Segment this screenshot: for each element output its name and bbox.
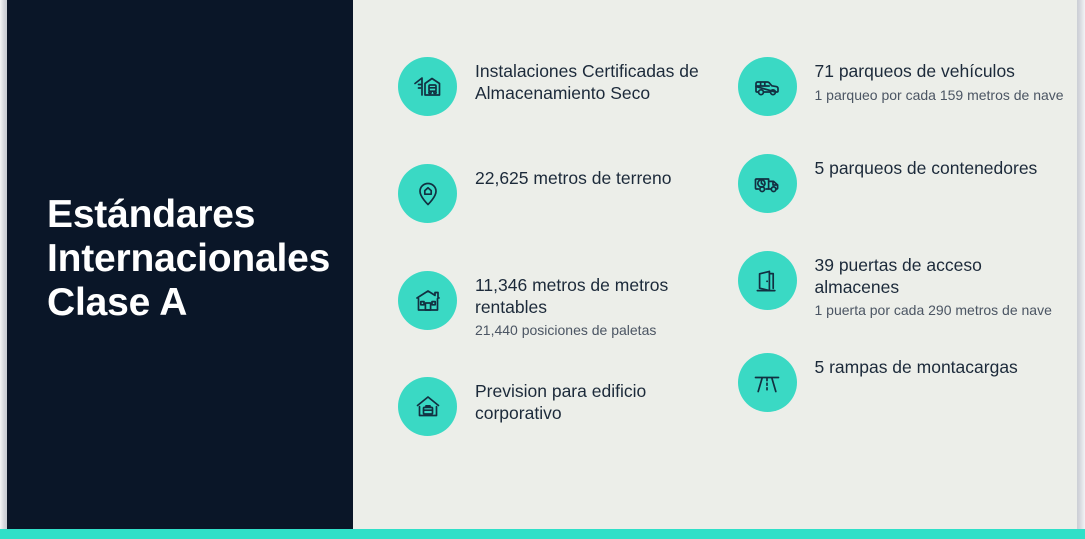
feature-item-vehicle-parking: 71 parqueos de vehículos 1 parqueo por c…: [738, 55, 1068, 116]
delivery-truck-clock-icon: [738, 154, 797, 213]
features-column-left: Instalaciones Certificadas de Almacenami…: [398, 55, 738, 436]
page-title-line-1: Estándares: [47, 193, 347, 237]
feature-item-corporate-building: Prevision para edificio corporativo: [398, 375, 738, 436]
map-pin-icon: [398, 164, 457, 223]
feature-title: Instalaciones Certificadas de Almacenami…: [475, 61, 738, 104]
page-edge-left: [0, 0, 7, 539]
feature-title: 71 parqueos de vehículos: [815, 61, 1064, 83]
feature-text: 5 rampas de montacargas: [815, 351, 1018, 379]
page-edge-right: [1077, 0, 1085, 539]
page-title-line-3: Clase A: [47, 281, 347, 325]
feature-subtitle: 1 puerta por cada 290 metros de nave: [815, 302, 1065, 319]
feature-title: 11,346 metros de metros rentables: [475, 275, 738, 318]
warehouse-building-icon: [398, 271, 457, 330]
bottom-accent-bar: [0, 529, 1085, 539]
feature-title: 22,625 metros de terreno: [475, 168, 672, 190]
feature-subtitle: 1 parqueo por cada 159 metros de nave: [815, 87, 1064, 104]
features-column-right: 71 parqueos de vehículos 1 parqueo por c…: [738, 55, 1068, 436]
feature-title: 5 parqueos de contenedores: [815, 158, 1038, 180]
feature-item-land-area: 22,625 metros de terreno: [398, 162, 738, 223]
feature-item-certified-storage: Instalaciones Certificadas de Almacenami…: [398, 55, 738, 116]
feature-title: 5 rampas de montacargas: [815, 357, 1018, 379]
ramp-road-icon: [738, 353, 797, 412]
feature-item-rentable-area: 11,346 metros de metros rentables 21,440…: [398, 269, 738, 339]
open-door-icon: [738, 251, 797, 310]
feature-item-warehouse-doors: 39 puertas de acceso almacenes 1 puerta …: [738, 249, 1068, 319]
feature-text: 5 parqueos de contenedores: [815, 152, 1038, 180]
warehouse-truck-icon: [398, 57, 457, 116]
feature-text: 39 puertas de acceso almacenes 1 puerta …: [815, 249, 1068, 319]
feature-subtitle: 21,440 posiciones de paletas: [475, 322, 725, 339]
feature-item-loading-ramps: 5 rampas de montacargas: [738, 351, 1068, 412]
feature-text: Prevision para edificio corporativo: [475, 375, 738, 424]
content-panel: Instalaciones Certificadas de Almacenami…: [353, 0, 1077, 529]
feature-text: 11,346 metros de metros rentables 21,440…: [475, 269, 738, 339]
car-icon: [738, 57, 797, 116]
features-grid: Instalaciones Certificadas de Almacenami…: [398, 55, 1067, 436]
title-panel: Estándares Internacionales Clase A: [7, 0, 353, 529]
office-briefcase-icon: [398, 377, 457, 436]
feature-text: 22,625 metros de terreno: [475, 162, 672, 190]
page-title: Estándares Internacionales Clase A: [47, 193, 347, 325]
feature-title: Prevision para edificio corporativo: [475, 381, 738, 424]
page-title-line-2: Internacionales: [47, 237, 347, 281]
feature-text: Instalaciones Certificadas de Almacenami…: [475, 55, 738, 104]
feature-title: 39 puertas de acceso almacenes: [815, 255, 1068, 298]
feature-item-container-parking: 5 parqueos de contenedores: [738, 152, 1068, 213]
feature-text: 71 parqueos de vehículos 1 parqueo por c…: [815, 55, 1064, 104]
slide-canvas: Estándares Internacionales Clase A: [0, 0, 1085, 539]
